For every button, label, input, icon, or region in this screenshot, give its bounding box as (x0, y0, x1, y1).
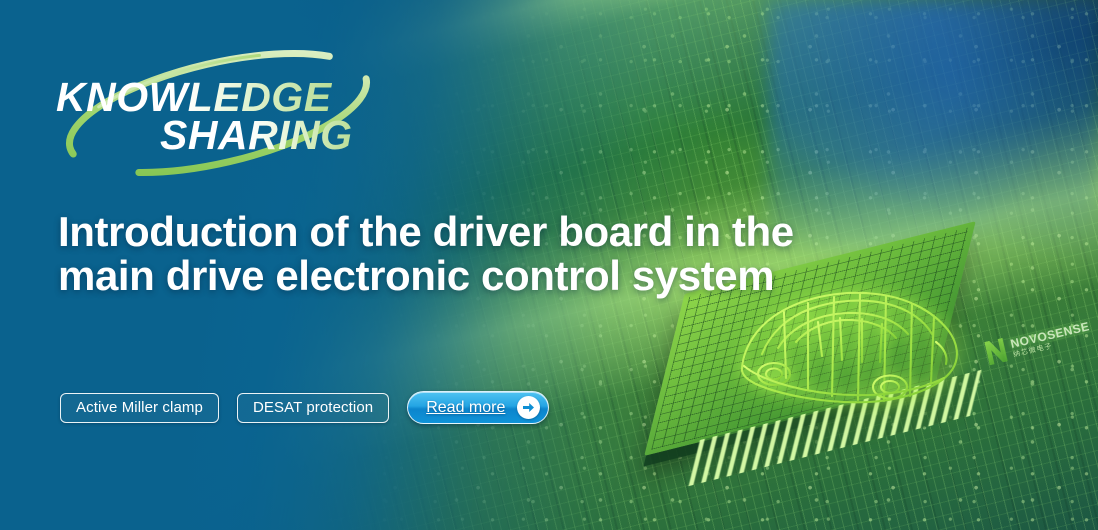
knowledge-sharing-logo: KNOWLEDGE SHARING (48, 46, 388, 181)
tag-row: Active Miller clamp DESAT protection Rea… (60, 391, 549, 424)
banner-content: KNOWLEDGE SHARING Introduction of the dr… (0, 0, 1098, 530)
read-more-button[interactable]: Read more (407, 391, 549, 424)
page-title: Introduction of the driver board in the … (58, 210, 798, 298)
tag-active-miller-clamp[interactable]: Active Miller clamp (60, 393, 219, 423)
tag-desat-protection[interactable]: DESAT protection (237, 393, 389, 423)
arrow-right-icon (517, 396, 540, 419)
knowledge-sharing-banner: NOVOSENSE 纳芯微电子 (0, 0, 1098, 530)
read-more-label: Read more (426, 399, 505, 417)
swoosh-icon (48, 46, 388, 181)
